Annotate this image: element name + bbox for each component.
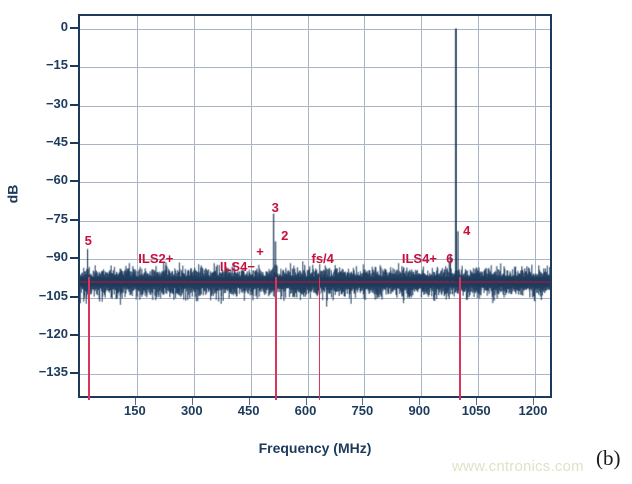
x-axis-tick-mark — [476, 398, 477, 405]
watermark: www.cntronics.com — [452, 458, 584, 475]
y-axis-tick-label: −105 — [10, 289, 68, 302]
peak-annotation: ILS2+ — [138, 252, 173, 265]
y-axis-tick-mark — [70, 180, 78, 182]
peak-annotation: ILS4+ — [402, 252, 437, 265]
y-axis-tick-label: −60 — [10, 173, 68, 186]
y-axis-tick-label: −15 — [10, 58, 68, 71]
x-axis-tick-label: 600 — [276, 404, 336, 417]
peak-annotation: + — [256, 245, 264, 258]
plot-area: 5ILS2+ILS4−+32fs/4ILS4+64 — [78, 14, 552, 398]
y-axis-tick-label: −120 — [10, 327, 68, 340]
y-axis-tick-mark — [70, 296, 78, 298]
y-axis-tick-mark — [70, 104, 78, 106]
x-axis-tick-mark — [249, 398, 250, 405]
y-axis-tick-label: −75 — [10, 212, 68, 225]
y-axis-tick-mark — [70, 142, 78, 144]
x-axis-tick-mark — [192, 398, 193, 405]
y-axis-tick-mark — [70, 65, 78, 67]
peak-annotation: 2 — [281, 229, 288, 242]
x-axis-tick-label: 1050 — [446, 404, 506, 417]
peak-annotation: 6 — [446, 252, 453, 265]
x-axis-label: Frequency (MHz) — [78, 440, 552, 456]
x-axis-tick-label: 450 — [219, 404, 279, 417]
x-axis-tick-mark — [533, 398, 534, 405]
y-axis-tick-label: −30 — [10, 97, 68, 110]
y-axis-tick-mark — [70, 372, 78, 374]
spectrum-plot-figure: dB Frequency (MHz) 0−15−30−45−60−75−90−1… — [0, 0, 632, 484]
x-axis-tick-label: 150 — [105, 404, 165, 417]
peak-annotation: ILS4− — [220, 260, 255, 273]
x-axis-tick-mark — [135, 398, 136, 405]
x-axis-tick-label: 900 — [389, 404, 449, 417]
y-axis-tick-mark — [70, 334, 78, 336]
y-axis-tick-label: −45 — [10, 135, 68, 148]
y-axis-tick-mark — [70, 257, 78, 259]
y-axis-tick-label: 0 — [10, 20, 68, 33]
peak-annotation: 4 — [463, 224, 470, 237]
peak-annotation: 3 — [272, 201, 279, 214]
peak-annotations: 5ILS2+ILS4−+32fs/4ILS4+64 — [80, 16, 550, 396]
peak-annotation: fs/4 — [311, 252, 333, 265]
x-axis-tick-label: 1200 — [503, 404, 563, 417]
y-axis-tick-mark — [70, 219, 78, 221]
x-axis-tick-mark — [306, 398, 307, 405]
x-axis-tick-label: 750 — [332, 404, 392, 417]
y-axis-tick-mark — [70, 27, 78, 29]
x-axis-tick-mark — [419, 398, 420, 405]
x-axis-tick-label: 300 — [162, 404, 222, 417]
peak-annotation: 5 — [85, 234, 92, 247]
y-axis-tick-label: −90 — [10, 250, 68, 263]
x-axis-tick-mark — [362, 398, 363, 405]
y-axis-label: dB — [4, 185, 20, 204]
subfigure-label: (b) — [596, 446, 621, 471]
y-axis-tick-label: −135 — [10, 365, 68, 378]
